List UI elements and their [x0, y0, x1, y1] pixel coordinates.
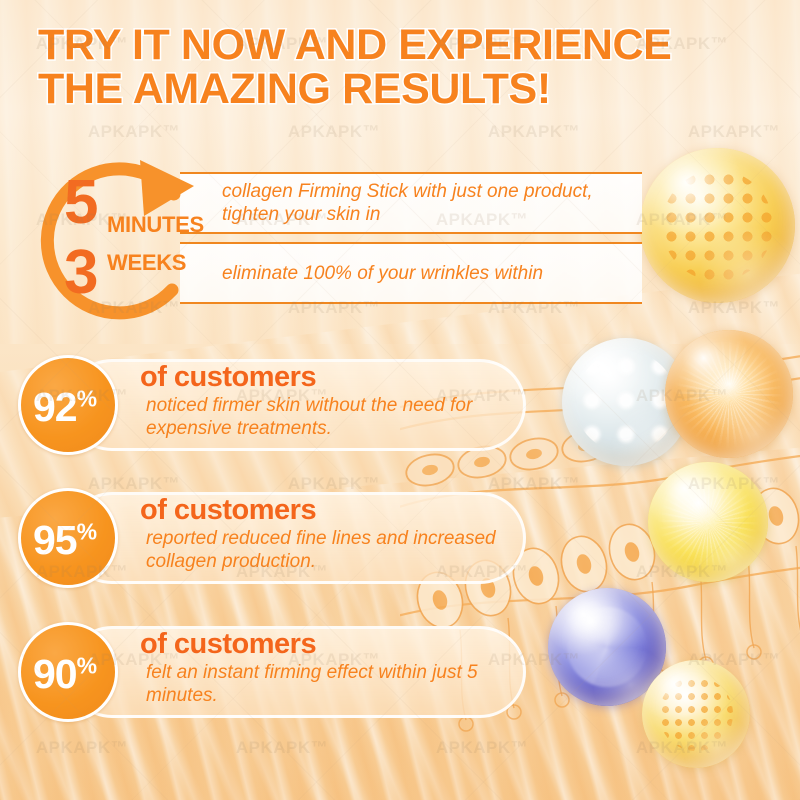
timing-text-2: eliminate 100% of your wrinkles within: [222, 262, 642, 285]
stat-percent-value: 95%: [33, 520, 97, 561]
status-badge: 92%: [18, 355, 118, 455]
honeycomb-sphere-large-icon: [640, 148, 795, 303]
sphere-gloss: [648, 462, 768, 582]
timing-number-5: 5: [64, 172, 98, 234]
timing-number-3: 3: [64, 242, 98, 304]
serum-sphere-yellow-icon: [648, 462, 768, 582]
timing-text-1: collagen Firming Stick with just one pro…: [222, 180, 642, 226]
honeycomb-sphere-small-icon: [642, 660, 750, 768]
sphere-gloss: [665, 330, 793, 458]
timing-unit-weeks: WEEKS: [107, 250, 186, 276]
status-badge: 95%: [18, 488, 118, 588]
promo-banner: TRY IT NOW AND EXPERIENCE THE AMAZING RE…: [0, 0, 800, 800]
stat-heading: of customers: [140, 361, 316, 394]
status-badge: 90%: [18, 622, 118, 722]
sphere-gloss: [642, 660, 750, 768]
stat-description: felt an instant firming effect within ju…: [146, 662, 516, 708]
stat-percent-value: 92%: [33, 387, 97, 428]
stat-heading: of customers: [140, 494, 316, 527]
glow-sphere-orange-icon: [665, 330, 793, 458]
circular-arrow-icon: [22, 150, 222, 330]
headline-line-2: THE AMAZING RESULTS!: [38, 68, 738, 112]
stat-percent-value: 90%: [33, 654, 97, 695]
stat-heading: of customers: [140, 628, 316, 661]
stat-row: 95% of customers reported reduced fine l…: [18, 488, 526, 588]
page-title: TRY IT NOW AND EXPERIENCE THE AMAZING RE…: [38, 24, 738, 112]
stat-description: noticed firmer skin without the need for…: [146, 395, 516, 441]
timing-unit-minutes: MINUTES: [107, 212, 204, 238]
stat-row: 92% of customers noticed firmer skin wit…: [18, 355, 526, 455]
headline-line-1: TRY IT NOW AND EXPERIENCE: [38, 21, 671, 69]
stat-row: 90% of customers felt an instant firming…: [18, 622, 526, 722]
timing-section: 5 MINUTES 3 WEEKS collagen Firming Stick…: [22, 150, 642, 330]
sphere-gloss: [640, 148, 795, 303]
stat-description: reported reduced fine lines and increase…: [146, 528, 516, 574]
